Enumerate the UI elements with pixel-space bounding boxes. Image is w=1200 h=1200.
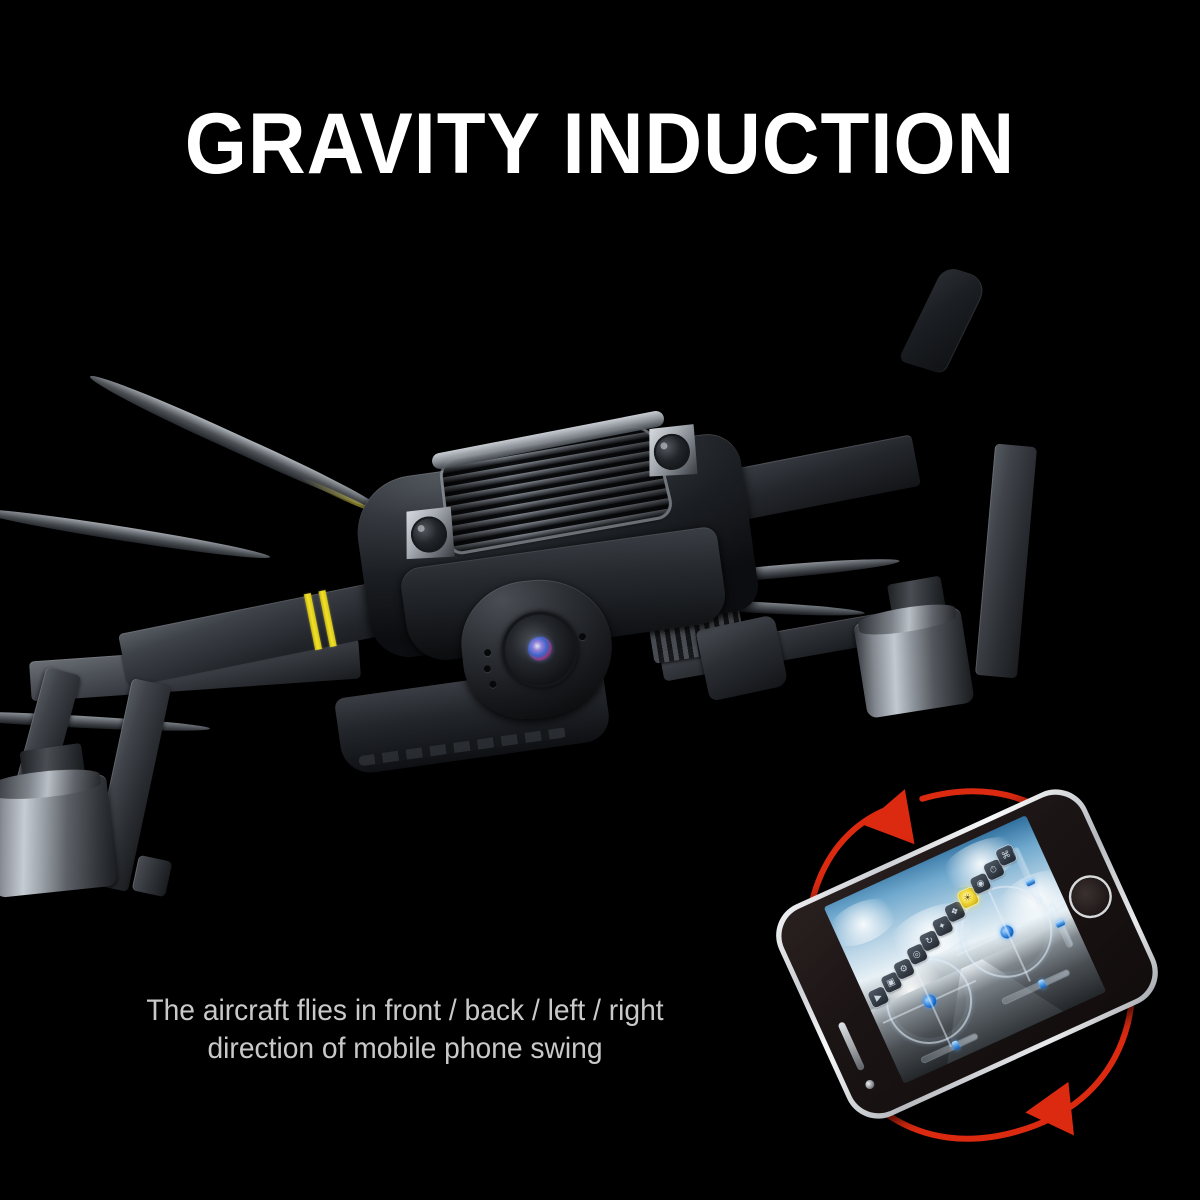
gravity-induction-illustration: ▶▣⚙◎↻✦❖☀◉⏱⌘ [770, 770, 1170, 1160]
joystick-dot-right[interactable] [998, 923, 1015, 940]
caption-line-1: The aircraft flies in front / back / lef… [81, 992, 730, 1030]
camera-lens-icon [498, 608, 582, 692]
feature-caption: The aircraft flies in front / back / lef… [81, 992, 730, 1068]
propeller-blade-front-left [86, 369, 384, 517]
propeller-blade-folded-right [898, 266, 990, 375]
grille-rib [441, 477, 672, 524]
rotation-arrowhead-bottom [1023, 1082, 1074, 1141]
front-sensor-left-icon [397, 502, 461, 566]
motor-left [0, 774, 118, 898]
landing-leg-foot-left [132, 855, 173, 897]
propeller-blade-rear-left [0, 503, 271, 564]
grille-rib [441, 467, 671, 514]
grille-rib [441, 458, 668, 505]
front-sensor-right-icon [640, 420, 704, 484]
joystick-dot-left[interactable] [920, 992, 937, 1009]
page-title: GRAVITY INDUCTION [42, 98, 1158, 190]
promo-image-canvas: GRAVITY INDUCTION [0, 0, 1200, 1200]
motor-cap-left [0, 766, 102, 803]
accent-stripe-pair-left [302, 591, 342, 650]
landing-leg-right [975, 444, 1037, 679]
motor-right [853, 607, 975, 719]
caption-line-2: direction of mobile phone swing [81, 1030, 730, 1068]
